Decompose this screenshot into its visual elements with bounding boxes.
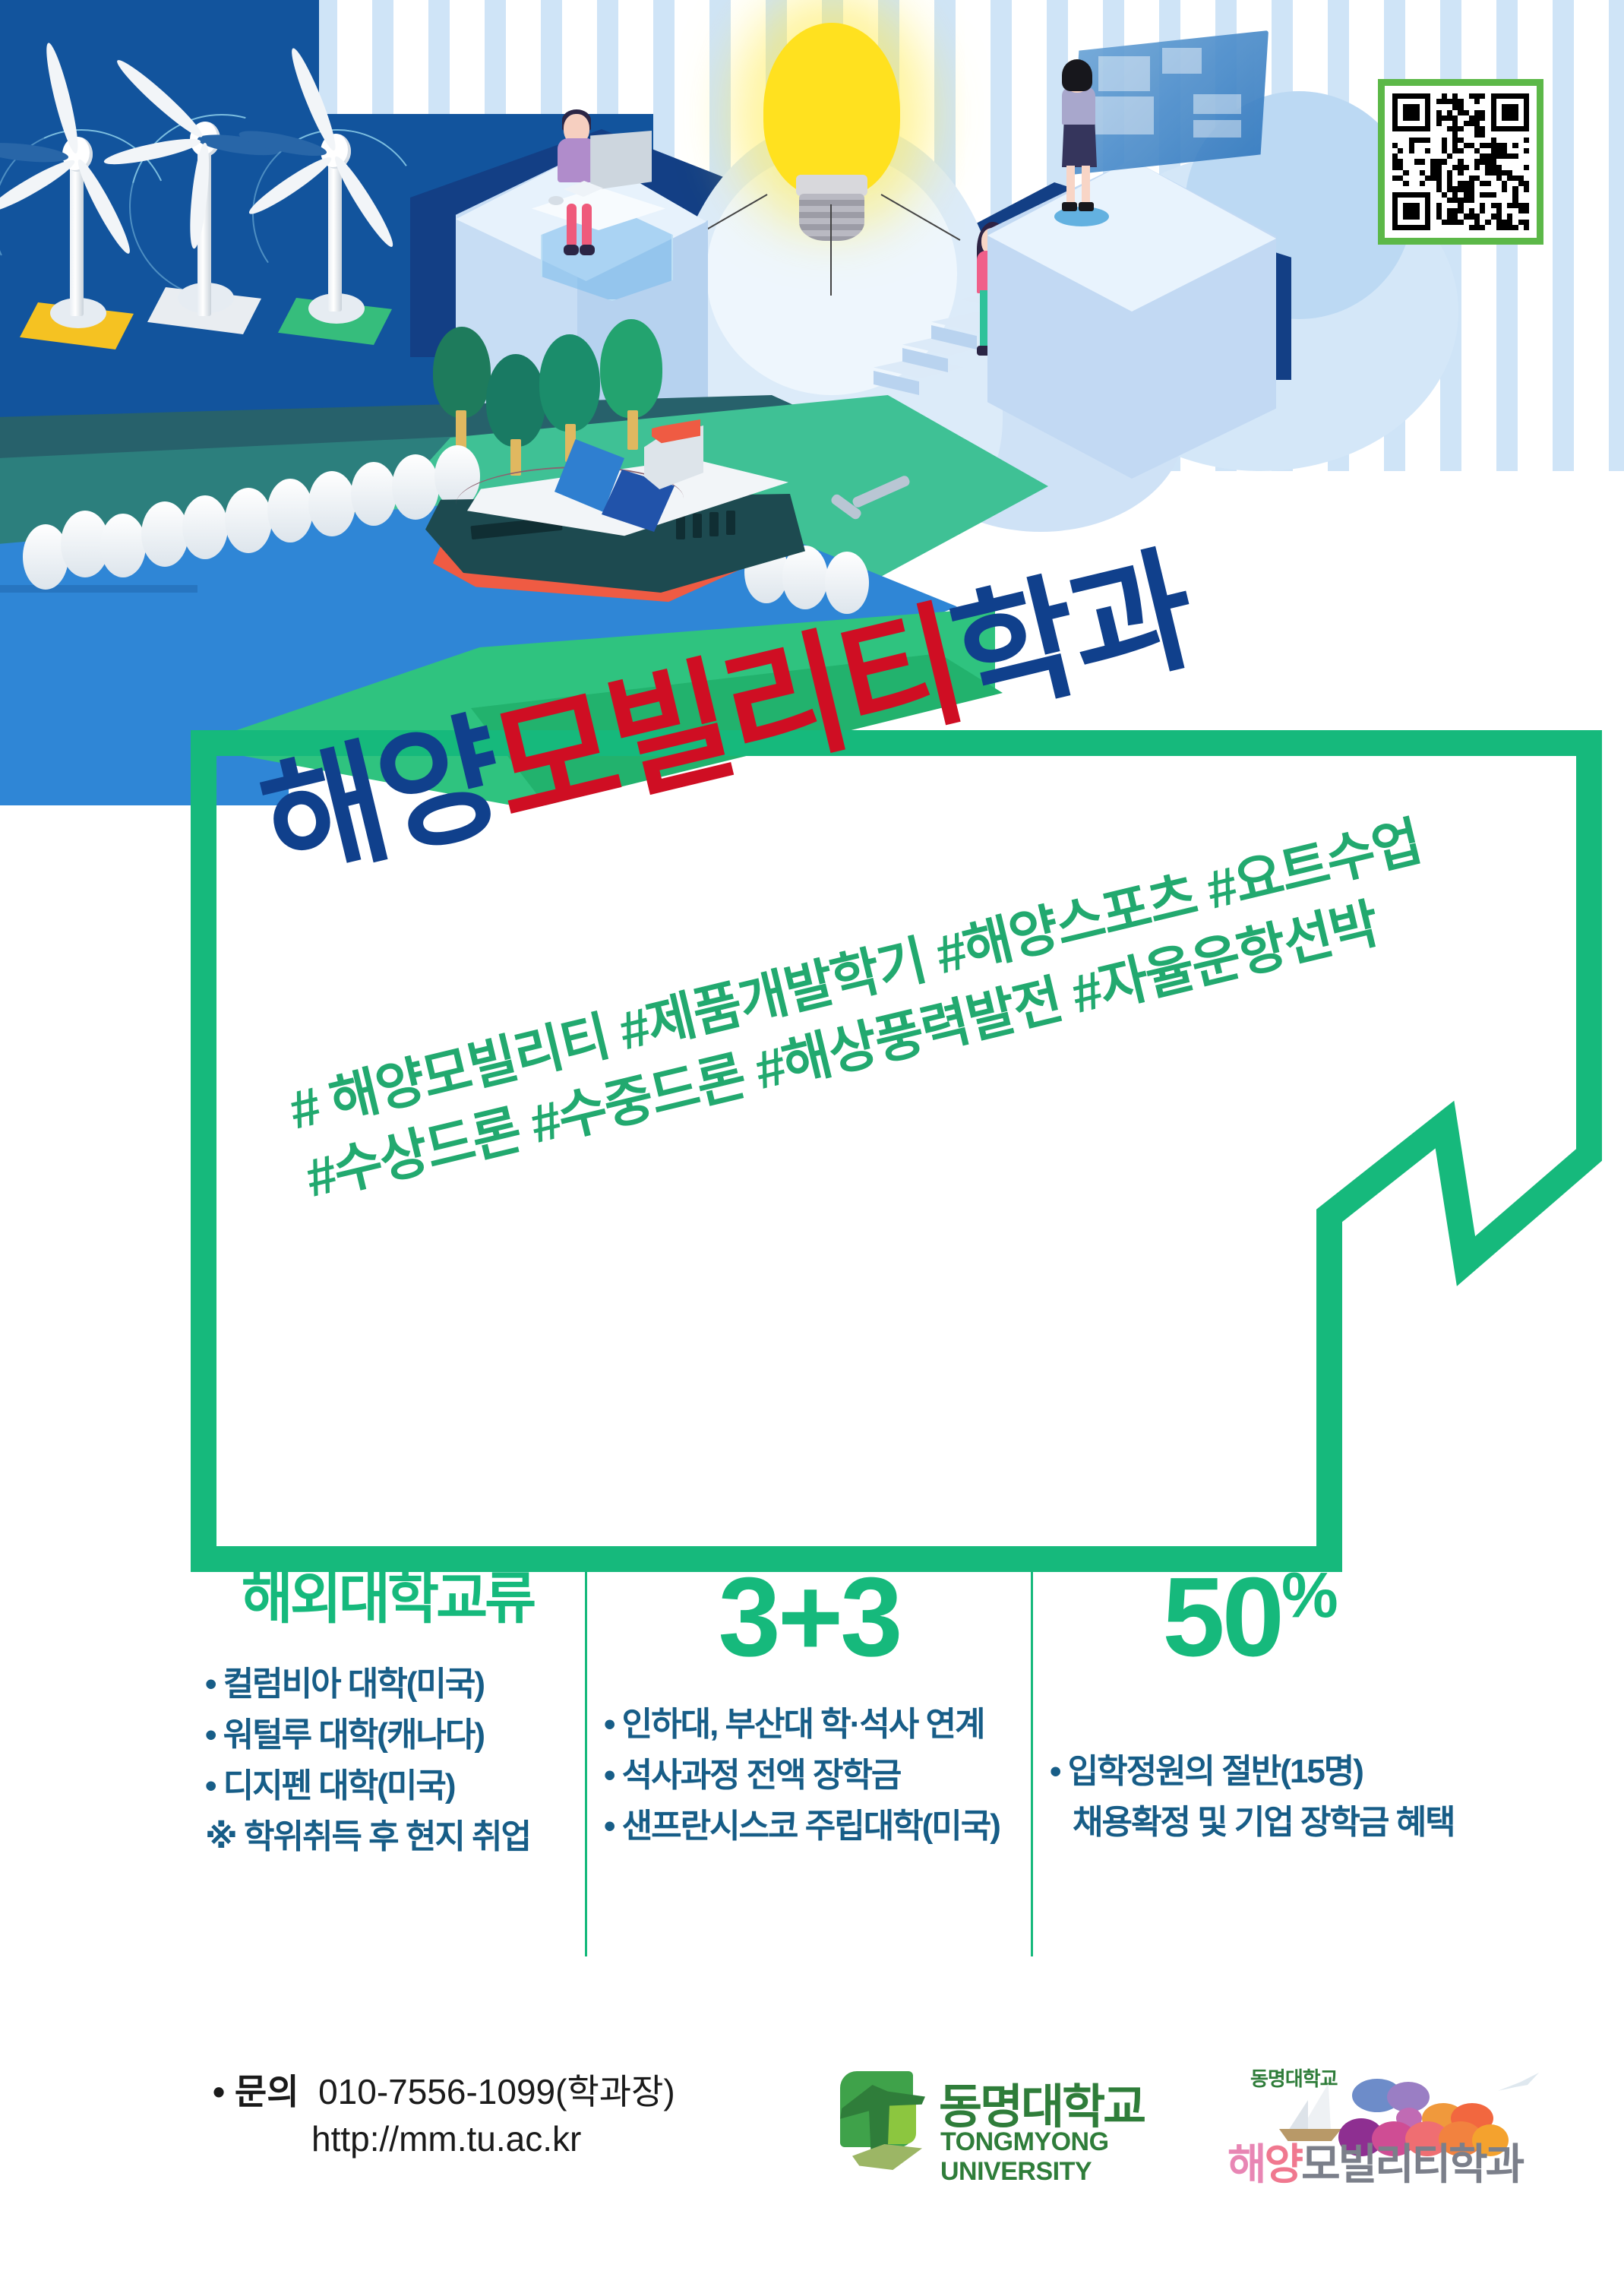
list-item: • 입학정원의 절반(15명) [1050,1747,1449,1798]
person-shoe [1079,202,1094,211]
sea-foam [308,471,355,536]
lightbulb-base [799,194,864,241]
person-shoe [580,245,595,255]
list-item: • 워털루 대학(캐나다) [205,1710,570,1761]
contact-block: • 문의 010-7556-1099(학과장) http://mm.tu.ac.… [213,2068,675,2162]
screen-cell [1098,56,1150,91]
tree [433,327,491,418]
sea-foam [225,488,272,553]
poster-root: 해양모빌리티학과 # 해양모빌리티 #제품개발학기 #해양스포츠 #요트수업 #… [0,0,1624,2271]
list-item: • 샌프란시스코 주립대학(미국) [604,1801,1014,1852]
qr-matrix [1392,93,1529,230]
percent-symbol: % [1281,1560,1337,1631]
dept-name-part-3: 모빌리티학과 [1301,2140,1522,2188]
list-item: • 디지펜 대학(미국) [205,1761,570,1812]
list-item: • 컬럼비아 대학(미국) [205,1659,570,1710]
university-name-korean: 동명대학교 [939,2068,1144,2137]
contact-phone: 010-7556-1099(학과장) [318,2072,675,2111]
info-columns: 해외대학교류 • 컬럼비아 대학(미국) • 워털루 대학(캐나다) • 디지펜… [190,1561,1466,1956]
contact-website[interactable]: http://mm.tu.ac.kr [311,2119,581,2159]
university-name-english: TONGMYONG UNIVERSITY [940,2127,1193,2187]
person-shoe [564,245,579,255]
seagull-icon [1498,2073,1539,2092]
column-bullets: • 인하대, 부산대 학·석사 연계 • 석사과정 전액 장학금 • 샌프란시스… [604,1700,1014,1852]
university-logo: 동명대학교 TONGMYONG UNIVERSITY [836,2058,1193,2171]
column-note: ※ 학위취득 후 현지 취업 [205,1812,570,1863]
qr-code[interactable] [1378,79,1543,245]
column-heading-number: 50 [1162,1555,1281,1680]
lightbulb-neck [796,175,867,196]
sea-foam [825,552,869,614]
lightbulb-icon [763,23,900,198]
contact-row-website[interactable]: http://mm.tu.ac.kr [213,2115,675,2162]
person-shoe [1062,202,1077,211]
mouse-icon [548,196,564,205]
column-bullets: • 입학정원의 절반(15명) 채용확정 및 기업 장학금 혜택 [1050,1747,1449,1849]
column-heading: 3+3 [604,1561,1014,1674]
list-item: 채용확정 및 기업 장학금 혜택 [1050,1798,1449,1849]
column-bullets: • 컬럼비아 대학(미국) • 워털루 대학(캐나다) • 디지펜 대학(미국)… [205,1659,570,1863]
person-leg [567,204,577,248]
sea-foam [141,501,188,567]
dept-name-part-1: 해 [1227,2140,1265,2188]
person-leg [1082,166,1090,205]
screen-cell [1193,94,1240,115]
person-skirt [1062,120,1097,167]
tree [600,319,662,418]
contact-label: • 문의 [213,2072,299,2111]
sea-foam [182,495,228,559]
screen-cell [1193,120,1240,138]
contact-row-phone: • 문의 010-7556-1099(학과장) [213,2068,675,2115]
logo-leaf-icon [852,2144,922,2170]
column-three-plus-three: 3+3 • 인하대, 부산대 학·석사 연계 • 석사과정 전액 장학금 • 샌… [585,1561,1033,1956]
ship-illustration [425,425,820,608]
sea-foam [351,462,397,526]
dept-name-part-2: 양 [1265,2140,1302,2188]
department-logo: 동명대학교 해양모빌리티학과 [1223,2051,1542,2188]
department-logo-name: 해양모빌리티학과 [1227,2130,1522,2192]
person-leg [582,204,592,248]
list-item: • 인하대, 부산대 학·석사 연계 [604,1700,1014,1751]
tree [539,334,600,432]
footer: • 문의 010-7556-1099(학과장) http://mm.tu.ac.… [0,2044,1624,2257]
column-fifty-percent: 50% • 입학정원의 절반(15명) 채용확정 및 기업 장학금 혜택 [1033,1561,1466,1956]
person-hair [1062,59,1092,91]
column-overseas-exchange: 해외대학교류 • 컬럼비아 대학(미국) • 워털루 대학(캐나다) • 디지펜… [190,1561,585,1956]
sea-foam [100,514,146,577]
university-logo-mark [836,2065,927,2156]
screen-cell [1095,96,1154,134]
ship-vent [726,511,735,535]
sail-jib [1288,2100,1308,2130]
sea-foam [267,479,313,542]
dashboard-screen [1071,30,1269,175]
ship-vent [709,512,719,536]
column-heading: 해외대학교류 [205,1561,570,1629]
screen-cell [1162,48,1202,74]
ship-vent [693,514,702,538]
person-leg [1066,166,1075,205]
lightbulb-ray [830,204,832,296]
list-item: • 석사과정 전액 장학금 [604,1751,1014,1801]
column-heading: 50% [1050,1561,1449,1674]
